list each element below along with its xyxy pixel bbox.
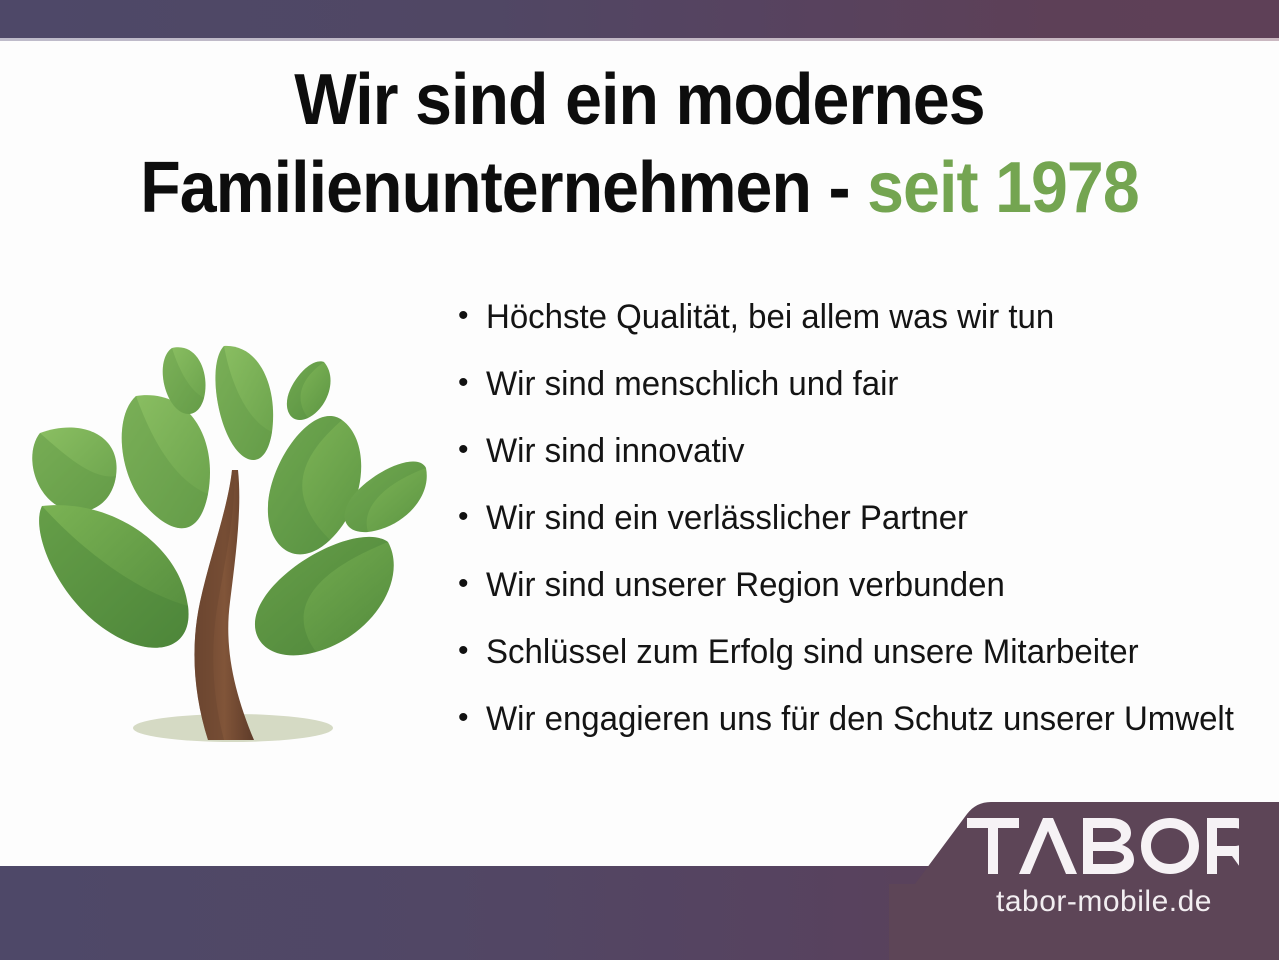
list-item: • Schlüssel zum Erfolg sind unsere Mitar… xyxy=(458,635,1268,702)
page-title-accent: seit 1978 xyxy=(867,148,1139,228)
page-title-line-1: Wir sind ein modernes xyxy=(51,56,1228,144)
brand-logo-shape xyxy=(889,790,1279,960)
list-item: • Wir sind ein verlässlicher Partner xyxy=(458,501,1268,568)
list-item: • Wir sind innovativ xyxy=(458,434,1268,501)
brand-domain-label: tabor-mobile.de xyxy=(969,886,1239,918)
slide-canvas: Wir sind ein modernes Familienunternehme… xyxy=(0,0,1279,960)
tree-leaf-top-right-small xyxy=(287,361,331,420)
bullet-marker-icon: • xyxy=(458,368,486,398)
list-item-label: Wir engagieren uns für den Schutz unsere… xyxy=(486,702,1234,736)
list-item-label: Wir sind menschlich und fair xyxy=(486,367,898,401)
value-bullet-list: • Höchste Qualität, bei allem was wir tu… xyxy=(458,300,1268,769)
list-item-label: Wir sind innovativ xyxy=(486,434,744,468)
bullet-marker-icon: • xyxy=(458,569,486,599)
list-item-label: Wir sind unserer Region verbunden xyxy=(486,568,1005,602)
list-item-label: Schlüssel zum Erfolg sind unsere Mitarbe… xyxy=(486,635,1139,669)
top-accent-bar xyxy=(0,0,1279,38)
top-accent-bar-highlight xyxy=(0,38,1279,41)
page-title-line-2-main: Familienunternehmen - xyxy=(140,148,867,228)
page-title-line-2: Familienunternehmen - seit 1978 xyxy=(51,144,1228,232)
tree-logo-svg xyxy=(28,330,440,762)
tree-leaf-upper-left xyxy=(122,395,210,528)
list-item: • Höchste Qualität, bei allem was wir tu… xyxy=(458,300,1268,367)
tree-trunk xyxy=(194,470,254,740)
brand-logo-block: tabor-mobile.de xyxy=(889,790,1279,960)
tree-leaf-upper-right xyxy=(268,416,361,554)
page-title: Wir sind ein modernes Familienunternehme… xyxy=(51,56,1228,232)
tree-leaf-left-outer xyxy=(32,427,116,511)
list-item: • Wir sind unserer Region verbunden xyxy=(458,568,1268,635)
tree-logo xyxy=(28,330,440,762)
list-item-label: Höchste Qualität, bei allem was wir tun xyxy=(486,300,1054,334)
bullet-marker-icon: • xyxy=(458,636,486,666)
brand-wordmark-tabor xyxy=(967,818,1239,874)
list-item-label: Wir sind ein verlässlicher Partner xyxy=(486,501,968,535)
tree-leaf-lower-right xyxy=(255,537,394,655)
list-item: • Wir sind menschlich und fair xyxy=(458,367,1268,434)
list-item: • Wir engagieren uns für den Schutz unse… xyxy=(458,702,1268,769)
bullet-marker-icon: • xyxy=(458,703,486,733)
bullet-marker-icon: • xyxy=(458,502,486,532)
bullet-marker-icon: • xyxy=(458,435,486,465)
tree-leaf-top-center xyxy=(215,346,273,460)
bullet-marker-icon: • xyxy=(458,301,486,331)
tree-leaf-lower-left xyxy=(39,505,188,648)
